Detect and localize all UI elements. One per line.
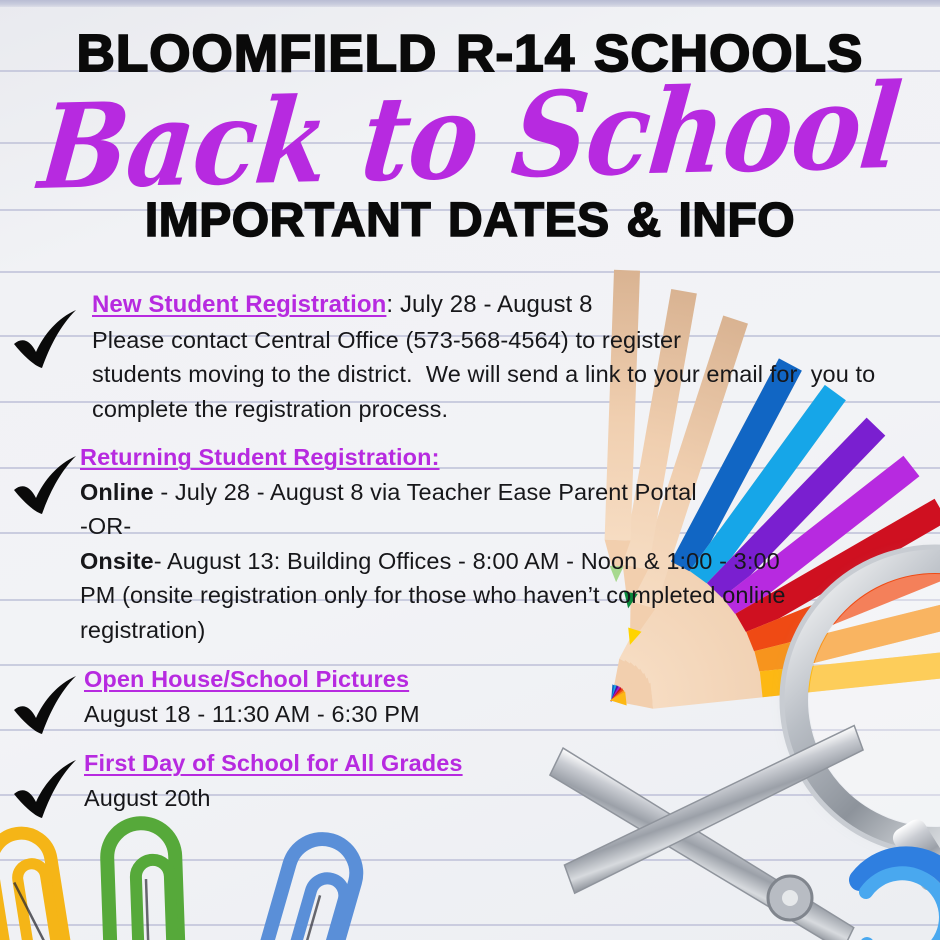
item-line-or: -OR- [80, 509, 940, 544]
item-heading-link: Returning Student Registration: [80, 444, 440, 470]
rule-line [0, 271, 940, 273]
item-heading-line: Open House/School Pictures [84, 662, 884, 697]
blue-paperclip [257, 831, 364, 940]
item-heading-suffix: : July 28 - August 8 [386, 291, 592, 318]
item-line: PM (onsite registration only for those w… [80, 578, 940, 613]
item-heading-line: First Day of School for All Grades [84, 746, 884, 781]
online-rest: - July 28 - August 8 via Teacher Ease Pa… [154, 479, 697, 505]
script-headline: Back to School [0, 64, 940, 210]
item-heading-link: New Student Registration [92, 291, 386, 318]
item-line: students moving to the district. We will… [92, 357, 940, 392]
item-heading-link: Open House/School Pictures [84, 666, 409, 692]
online-label: Online [80, 479, 154, 505]
item-line: Please contact Central Office (573-568-4… [92, 323, 940, 358]
item-line: complete the registration process. [92, 392, 940, 427]
rule-line [0, 859, 940, 861]
onsite-label: Onsite [80, 548, 154, 574]
list-item-text: New Student Registration: July 28 - Augu… [92, 288, 940, 426]
item-heading-line: New Student Registration: July 28 - Augu… [92, 288, 940, 323]
item-line: registration) [80, 613, 940, 648]
item-line: August 18 - 11:30 AM - 6:30 PM [84, 697, 884, 732]
list-item-text: Open House/School Pictures August 18 - 1… [84, 662, 884, 731]
item-heading-link: First Day of School for All Grades [84, 750, 463, 776]
rule-line [0, 924, 940, 926]
checkmark-icon [8, 304, 84, 376]
yellow-paperclip [0, 829, 66, 940]
flyer-headings: BLOOMFIELD R-14 SCHOOLS Back to School I… [0, 0, 940, 245]
checkmark-icon [8, 450, 84, 522]
item-line: August 20th [84, 781, 884, 816]
onsite-rest: - August 13: Building Offices - 8:00 AM … [154, 548, 780, 574]
checkmark-icon [8, 670, 84, 742]
item-line-online: Online - July 28 - August 8 via Teacher … [80, 475, 940, 510]
flyer-canvas: BLOOMFIELD R-14 SCHOOLS Back to School I… [0, 0, 940, 940]
item-line-onsite: Onsite- August 13: Building Offices - 8:… [80, 544, 940, 579]
checkmark-icon [8, 754, 84, 826]
list-item-text: First Day of School for All Grades Augus… [84, 746, 884, 815]
item-heading-line: Returning Student Registration: [80, 440, 940, 475]
green-paperclip [106, 822, 179, 940]
list-item-text: Returning Student Registration: Online -… [80, 440, 940, 647]
